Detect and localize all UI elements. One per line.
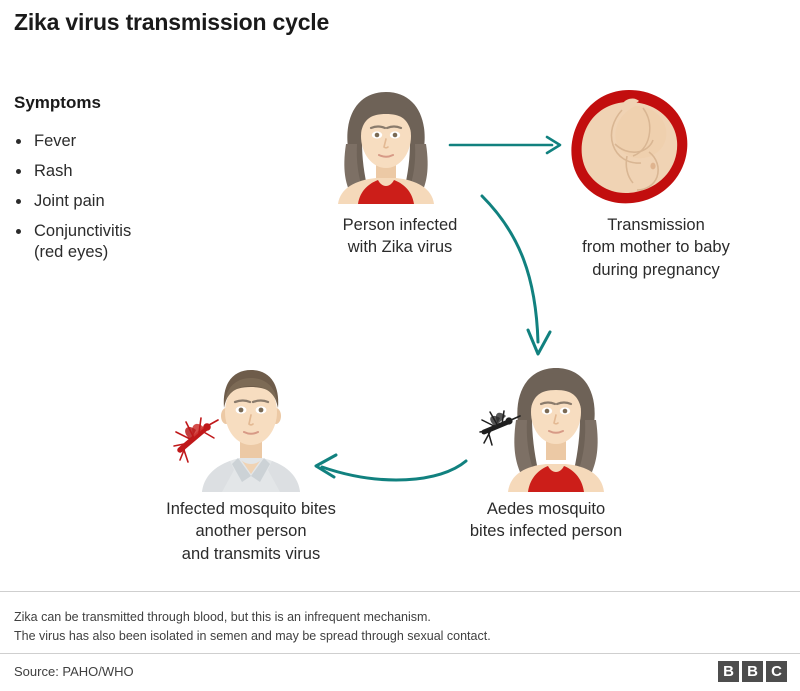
footnote: Zika can be transmitted through blood, b… xyxy=(14,608,491,646)
black-mosquito-icon xyxy=(480,411,520,445)
caption-line: and transmits virus xyxy=(118,543,384,565)
footnote-line: Zika can be transmitted through blood, b… xyxy=(14,608,491,627)
symptom-label: Fever xyxy=(34,132,76,150)
woman-with-black-mosquito-icon xyxy=(470,360,622,497)
source-label: Source: PAHO/WHO xyxy=(14,664,134,679)
list-item: Joint pain xyxy=(14,191,131,212)
symptoms-list: Fever Rash Joint pain Conjunctivitis (re… xyxy=(14,131,131,273)
list-item: Fever xyxy=(14,131,131,152)
symptom-label: Joint pain xyxy=(34,192,105,210)
woman-infected-icon xyxy=(318,86,454,209)
symptom-sublabel: (red eyes) xyxy=(34,242,131,263)
caption-line: Aedes mosquito xyxy=(430,498,662,520)
infographic-canvas: Zika virus transmission cycle Symptoms F… xyxy=(0,0,800,691)
caption-line: bites infected person xyxy=(430,520,662,542)
list-item: Rash xyxy=(14,161,131,182)
bbc-logo-letter: B xyxy=(718,661,739,682)
straight-right-arrow xyxy=(448,130,568,165)
bbc-logo-letter: C xyxy=(766,661,787,682)
caption-line: another person xyxy=(118,520,384,542)
footnote-line: The virus has also been isolated in seme… xyxy=(14,627,491,646)
symptoms-heading: Symptoms xyxy=(14,93,101,113)
caption-infected-mosquito-bites: Infected mosquito bites another person a… xyxy=(118,498,384,565)
caption-aedes-bites: Aedes mosquito bites infected person xyxy=(430,498,662,543)
list-item: Conjunctivitis (red eyes) xyxy=(14,221,131,263)
man-with-red-mosquito-icon xyxy=(172,358,330,497)
fetus-in-womb-icon xyxy=(565,86,695,213)
curved-down-arrow xyxy=(462,182,582,367)
symptom-label: Conjunctivitis xyxy=(34,222,131,240)
page-title: Zika virus transmission cycle xyxy=(14,9,329,36)
caption-line: Infected mosquito bites xyxy=(118,498,384,520)
divider-bottom xyxy=(0,653,800,654)
divider-top xyxy=(0,591,800,592)
bbc-logo-letter: B xyxy=(742,661,763,682)
symptom-label: Rash xyxy=(34,162,73,180)
red-mosquito-icon xyxy=(174,418,218,462)
bbc-logo: B B C xyxy=(718,661,787,682)
